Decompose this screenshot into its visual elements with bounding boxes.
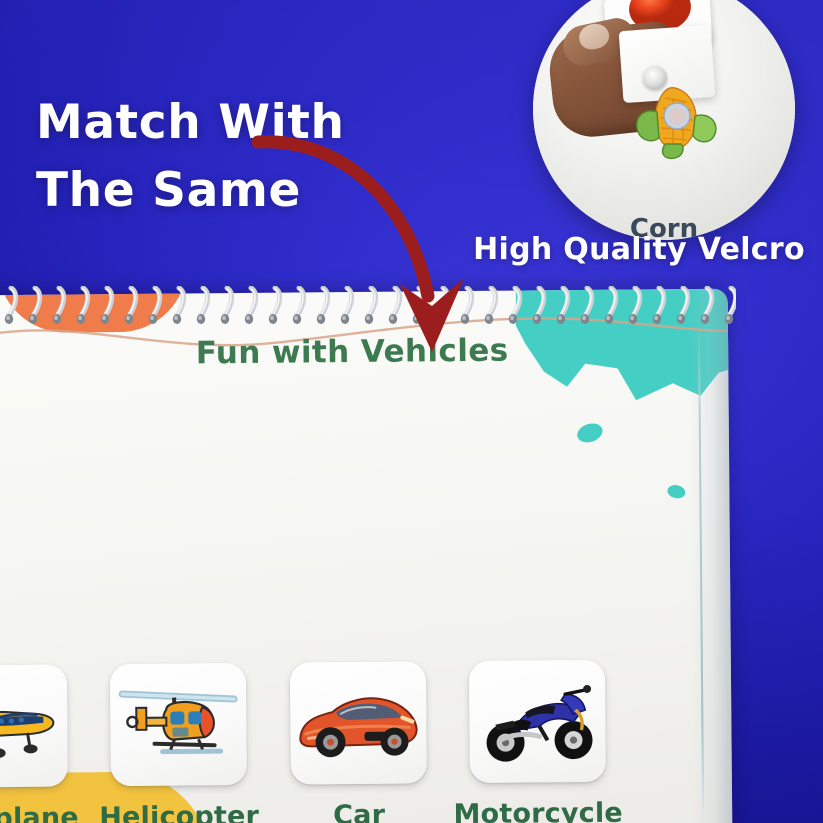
card-cell-aeroplane[interactable]: Aeroplane <box>0 664 90 823</box>
velcro-caption: High Quality Velcro <box>455 232 823 267</box>
card-cell-helicopter[interactable]: Helicopter <box>88 663 269 823</box>
vehicle-card[interactable] <box>110 663 247 786</box>
velcro-closeup-inset: Corn <box>533 0 795 240</box>
card-cell-car[interactable]: Car <box>268 661 449 823</box>
teal-dot-decoration <box>575 420 605 445</box>
card-label: Helicopter <box>89 801 269 823</box>
teal-dot-decoration-small <box>666 484 686 500</box>
advertisement-image: Fun with Vehicles <box>0 0 823 823</box>
vehicle-card[interactable] <box>0 665 68 788</box>
card-label: Motorcycle <box>448 798 628 823</box>
corn-icon <box>629 82 721 160</box>
motorcycle-icon <box>469 660 606 783</box>
card-row-1: Aeroplane <box>0 659 713 823</box>
sports-car-icon <box>290 661 427 784</box>
card-cell-motorcycle[interactable]: Motorcycle <box>447 660 628 823</box>
vehicle-card[interactable] <box>290 661 427 784</box>
airplane-icon <box>0 665 68 788</box>
vehicle-card[interactable] <box>469 660 606 783</box>
helicopter-icon <box>110 663 247 786</box>
card-label: Car <box>269 799 449 823</box>
card-label: Aeroplane <box>0 802 90 823</box>
vehicle-card-grid: Aeroplane <box>0 659 711 666</box>
